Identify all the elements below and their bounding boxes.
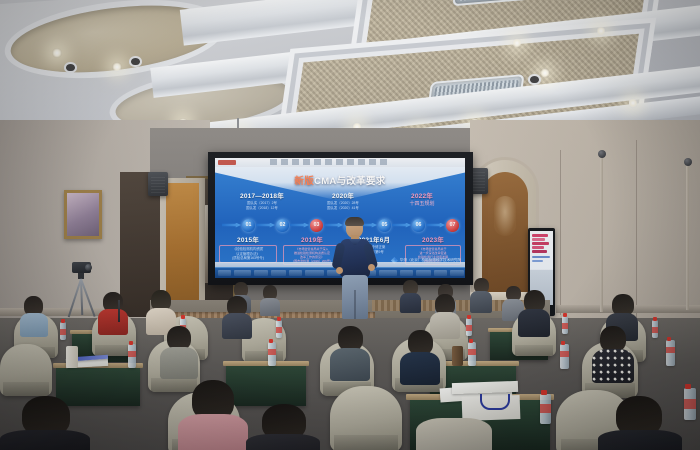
bottle-label [468,349,476,355]
person-body [98,309,128,335]
conduit-pipe [686,160,689,310]
slide-title-accent: 新版 [294,176,314,187]
person-body [416,418,492,450]
side-display-line [532,246,544,249]
presenter [330,218,382,318]
audience-person [598,396,682,450]
water-bottle[interactable] [276,320,282,338]
slide-year-block: 2017—2018年 国认实〔2017〕2号 国认发〔2018〕12号 [225,190,299,210]
timeline-node: 02 [276,219,289,232]
water-bottle[interactable] [562,316,568,334]
slide-year-sub: 国认发〔2020〕28号 国认发〔2020〕41号 [307,201,379,210]
downlight-icon [512,38,522,48]
tote-bag-handle[interactable] [480,394,510,410]
person-body [400,293,421,313]
audience-person [246,404,320,450]
water-bottle[interactable] [60,322,66,340]
smoke-detector-icon [66,64,75,71]
smoke-detector-icon [530,76,539,83]
slide-title: 新版CMA与改革要求 [215,173,465,187]
slide-year-label: 2023年 [405,234,461,244]
person-body [598,430,682,450]
security-camera-icon [684,158,692,166]
bottle-cap [653,317,657,321]
downlight-icon [112,62,122,72]
slide-year-sub: 《检验检测机构资质 认定管理办法》 (质检总局第163号令) [219,245,277,263]
audience-person [518,290,550,336]
presenter-hand-left [336,267,343,274]
side-display-line [532,260,543,263]
water-bottle[interactable] [540,394,551,424]
chair[interactable] [0,344,52,396]
slide-title-main: CMA与改革要求 [314,176,386,187]
bottle-label [60,329,66,335]
bottle-label [466,325,472,331]
slide-top-year-row: 2017—2018年 国认实〔2017〕2号 国认发〔2018〕12号 2020… [215,190,465,218]
downlight-icon [596,26,606,36]
taskbar-item[interactable] [416,270,431,276]
taskbar-start-icon[interactable] [218,270,231,276]
audience-person [592,326,634,382]
bottle-cap [563,313,567,317]
powerpoint-title-text [270,159,390,165]
timeline-arrow-icon [290,223,309,228]
chair[interactable] [330,386,402,450]
powerpoint-logo-icon [218,160,236,165]
timeline-arrow-icon [222,223,241,228]
wall-speaker [148,172,168,196]
bottle-label [268,349,276,355]
downlight-icon [540,68,550,78]
conduit-pipe [600,152,603,312]
person-body [260,298,280,316]
person-body [330,348,370,381]
conference-room-photo: 新版CMA与改革要求 2017—2018年 国认实〔2017〕2号 国认发〔20… [0,0,700,450]
slide-year-block: 2020年 国认发〔2020〕28号 国认发〔2020〕41号 [307,190,379,210]
audience-person [222,296,252,338]
bottle-label [560,351,569,357]
audience-person [178,380,248,450]
door-carving-ornament [494,196,516,236]
taskbar-tray-icon[interactable] [450,270,464,276]
side-display-line [532,250,547,253]
bottle-label [684,399,696,409]
bottle-cap [469,339,473,343]
downlight-icon [52,48,62,58]
audience-person [416,412,492,450]
bottle-cap [541,390,547,395]
taskbar-item[interactable] [271,270,286,276]
taskbar-item[interactable] [305,270,324,276]
slide-year-label: 2015年 [219,234,277,244]
slide-year-label: 2020年 [307,190,379,200]
timeline-node: 06 [412,219,425,232]
bottle-cap [467,315,471,319]
person-body [592,349,634,383]
bottle-cap [61,319,65,323]
timeline-arrow-icon [392,223,411,228]
table-surface [223,361,309,366]
thermos-mug[interactable] [66,346,78,368]
bottle-label [276,327,282,333]
smoke-detector-icon [131,58,140,65]
person-body [0,430,90,450]
slide-year-label: 2022年 [387,190,457,200]
presenter-leg-seam [354,290,356,319]
audience-person [160,326,198,378]
presenter-hair [345,217,364,226]
slide-year-block: 2022年 十四五规划 [387,190,457,207]
timeline-arrow-icon [426,223,445,228]
video-camera-icon [72,262,91,273]
water-bottle[interactable] [684,388,696,420]
bottle-cap [129,341,133,345]
side-display-line [532,242,549,245]
person-body [160,347,198,379]
water-bottle[interactable] [468,342,476,366]
slide-year-block: 2015年 《检验检测机构资质 认定管理办法》 (质检总局第163号令) [219,234,277,263]
wall-seam [636,140,637,320]
water-bottle[interactable] [666,340,675,366]
security-camera-icon [598,150,606,158]
powerpoint-title-bar [215,158,465,168]
bottle-label [540,404,551,413]
bottle-cap [181,315,185,319]
person-body [400,352,440,385]
bottle-label [652,327,658,333]
bottle-cap [561,341,565,345]
taskbar-item[interactable] [400,270,413,276]
bottle-cap [277,317,281,321]
audience-person [400,280,421,312]
bottle-cap [667,337,671,341]
audience-person [330,326,370,380]
side-display-line [532,234,548,237]
side-display-line [532,238,545,241]
downlight-icon [628,98,638,108]
timeline-node: 01 [242,219,255,232]
water-bottle[interactable] [268,342,276,366]
audience-person [400,330,440,384]
slide-year-sub: 十四五规划 [387,202,457,207]
thermos-mug[interactable] [452,346,463,366]
timeline-node: 07 [446,219,459,232]
slide-year-sub: 国认实〔2017〕2号 国认发〔2018〕12号 [225,201,299,210]
tripod-camera [62,262,100,318]
wall-seam [560,150,561,315]
taskbar-item[interactable] [289,270,302,276]
bottle-label [562,323,568,329]
water-bottle[interactable] [466,318,472,336]
taskbar-item[interactable] [234,270,251,276]
taskbar-item[interactable] [254,270,268,276]
taskbar-clock[interactable] [434,270,447,276]
bottle-cap [269,339,273,343]
person-body [20,313,48,337]
person-body [470,291,492,313]
audience-person [20,296,48,336]
bottle-label [666,347,675,353]
person-body [222,313,252,339]
wall-painting-framed [64,190,102,239]
audience-person [260,285,280,315]
water-bottle[interactable] [560,344,569,369]
presenter-hand-right [368,264,375,271]
bottle-label [128,351,136,357]
water-bottle[interactable] [128,344,136,368]
audience-person [0,396,90,450]
person-body [246,434,320,450]
water-bottle[interactable] [652,320,658,338]
timeline-node: 03 [310,219,323,232]
bottle-cap [685,384,691,389]
handout-papers[interactable] [452,381,518,394]
audience-person [98,292,128,334]
person-body [178,414,248,450]
audience-person [470,278,492,312]
slide-year-label: 2017—2018年 [225,190,299,200]
person-body [518,309,550,337]
side-display-line [532,256,550,259]
timeline-arrow-icon [256,223,275,228]
mic-stand [118,300,120,322]
